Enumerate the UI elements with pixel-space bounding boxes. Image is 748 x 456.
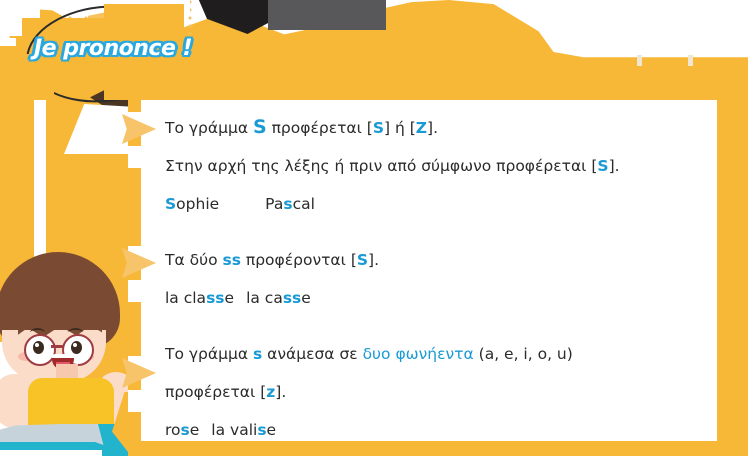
text-segment: z [266, 383, 275, 401]
text-segment: s [253, 345, 262, 363]
text-segment: Το γράμμα [165, 345, 253, 363]
text-segment: Z [416, 119, 427, 137]
character-eye-right [71, 341, 82, 354]
rule-block: Τα δύο ss προφέρονται [S].la classela ca… [165, 241, 710, 317]
text-segment: S [165, 195, 176, 213]
text-segment: e [267, 421, 277, 439]
fence-post-icon [637, 55, 642, 66]
text-segment: προφέρονται [ [241, 251, 357, 269]
text-segment: e [225, 289, 235, 307]
text-segment: Τα δύο [165, 251, 222, 269]
rule-line: Στην αρχή της λέξης ή πριν από σύμφωνο π… [165, 147, 710, 185]
rail-notch [128, 146, 143, 168]
text-segment: προφέρεται [ [267, 119, 373, 137]
text-segment: S [253, 116, 267, 138]
lesson-text-content: Το γράμμα S προφέρεται [S] ή [Z].Στην αρ… [165, 108, 710, 449]
text-segment: s [181, 421, 190, 439]
rail-notch [128, 280, 143, 302]
rule-line: Το γράμμα S προφέρεται [S] ή [Z]. [165, 108, 710, 147]
lesson-page: Je prononce ! [0, 0, 748, 456]
rule-block: Το γράμμα s ανάμεσα σε δυο φωνήεντα (a, … [165, 335, 710, 449]
text-segment: προφέρεται [ [165, 383, 266, 401]
text-segment: ] ή [ [384, 119, 416, 137]
text-segment: S [597, 157, 608, 175]
rule-line: la classela casse [165, 279, 710, 317]
card-border-top [128, 86, 716, 101]
character-eye-left [33, 341, 44, 354]
glasses-bridge-icon [51, 345, 64, 348]
text-segment: ophie [176, 195, 219, 213]
text-segment: ανάμεσα σε [262, 345, 362, 363]
text-segment: δυο φωνήεντα [363, 345, 474, 363]
text-segment: ]. [427, 119, 438, 137]
card-border-right [716, 100, 748, 456]
text-segment: cal [293, 195, 315, 213]
text-segment: e [301, 289, 311, 307]
rail-notch [128, 390, 143, 412]
block-separator [165, 317, 710, 335]
rule-line: SophiePascal [165, 185, 710, 223]
rule-line: Τα δύο ss προφέρονται [S]. [165, 241, 710, 279]
text-segment: ss [206, 289, 224, 307]
block-separator [165, 223, 710, 241]
rule-line: Το γράμμα s ανάμεσα σε δυο φωνήεντα (a, … [165, 335, 710, 373]
text-segment: ]. [368, 251, 379, 269]
text-segment: la ca [246, 289, 283, 307]
rule-line: προφέρεται [z]. [165, 373, 710, 411]
text-segment: la vali [211, 421, 257, 439]
text-segment: ]. [609, 157, 620, 175]
text-segment: ]. [275, 383, 286, 401]
text-segment: Pa [265, 195, 283, 213]
white-bottom-block [0, 450, 102, 456]
page-title: Je prononce ! [34, 36, 192, 61]
text-segment: ss [222, 251, 240, 269]
text-segment: e [190, 421, 200, 439]
text-segment: la cla [165, 289, 206, 307]
text-segment: s [257, 421, 266, 439]
rule-block: Το γράμμα S προφέρεται [S] ή [Z].Στην αρ… [165, 108, 710, 223]
text-segment: S [357, 251, 368, 269]
text-segment: ss [283, 289, 301, 307]
text-segment: (a, e, i, o, u) [474, 345, 573, 363]
rule-line: rosela valise [165, 411, 710, 449]
text-segment: Στην αρχή της λέξης ή πριν από σύμφωνο π… [165, 157, 597, 175]
text-segment: ro [165, 421, 181, 439]
gray-panel-shape [268, 0, 386, 30]
text-segment: Το γράμμα [165, 119, 253, 137]
text-segment: S [373, 119, 384, 137]
fence-post-icon [688, 55, 693, 66]
character-teeth [52, 354, 74, 358]
text-segment: s [283, 195, 292, 213]
